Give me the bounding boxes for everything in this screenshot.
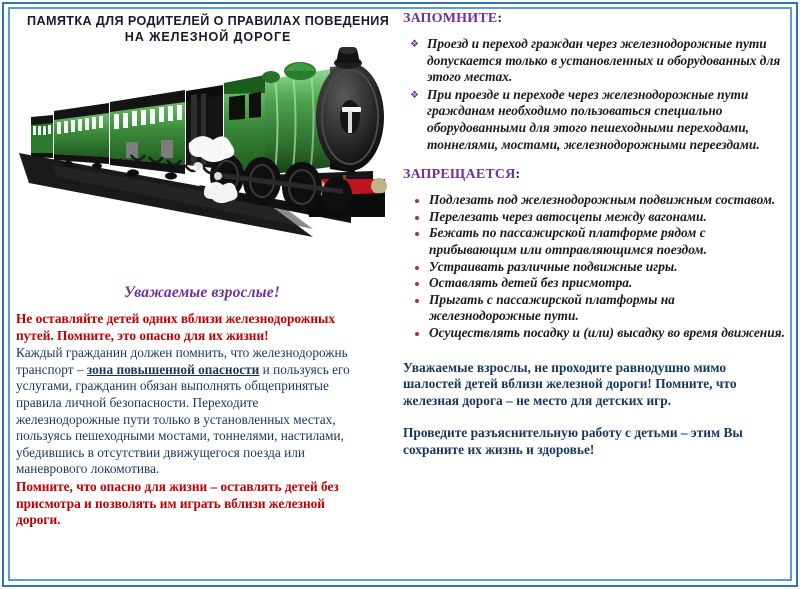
right-column: ЗАПОМНИТЕ: Проезд и переход граждан чере… [391,11,787,576]
remember-heading-text: ЗАПОМНИТЕ [403,11,497,26]
forbidden-list: Подлезать под железнодорожным подвижным … [403,192,787,341]
list-item: Осуществлять посадку и (или) высадку во … [403,325,787,342]
right-closing-paragraph-1: Уважаемые взрослы, не проходите равнодуш… [403,360,787,410]
left-closing-line-3: дороги. [16,512,391,529]
list-item: Прыгать с пассажирской платформы на желе… [403,292,787,325]
remember-heading-colon: : [497,11,502,26]
poster-content: ПАМЯТКА ДЛЯ РОДИТЕЛЕЙ О ПРАВИЛАХ ПОВЕДЕН… [13,11,787,576]
left-body-line-7: убедившись в отсутствии движущегося поез… [16,445,397,462]
left-closing-line-1: Помните, что опасно для жизни – оставлят… [16,479,391,496]
left-body-line-5: железнодорожные пути только в установлен… [16,412,397,429]
left-body-line-8: маневрового локомотива. [16,461,397,478]
railway-safety-poster: ПАМЯТКА ДЛЯ РОДИТЕЛЕЙ О ПРАВИЛАХ ПОВЕДЕН… [0,0,800,589]
left-warning-line-1: Не оставляйте детей одних вблизи железно… [16,311,391,328]
list-item: Оставлять детей без присмотра. [403,275,787,292]
list-item: Устраивать различные подвижные игры. [403,259,787,276]
left-closing-warning: Помните, что опасно для жизни – оставлят… [13,479,391,529]
left-warning-text: Не оставляйте детей одних вблизи железно… [13,311,391,344]
remember-heading: ЗАПОМНИТЕ: [403,11,787,27]
list-item: Подлезать под железнодорожным подвижным … [403,192,787,209]
left-closing-line-2: присмотра и позволять им играть вблизи ж… [16,496,391,513]
list-item: Бежать по пассажирской платформе рядом с… [403,225,787,258]
steam-locomotive-illustration [13,47,391,257]
forbidden-heading-text: ЗАПРЕЩАЕТСЯ [403,167,516,182]
left-warning-line-2: путей. Помните, это опасно для их жизни! [16,328,391,345]
forbidden-heading: ЗАПРЕЩАЕТСЯ: [403,167,787,183]
right-closing-1-line-1: Уважаемые взрослы, не проходите равнодуш… [403,360,787,377]
page-title: ПАМЯТКА ДЛЯ РОДИТЕЛЕЙ О ПРАВИЛАХ ПОВЕДЕН… [13,11,391,45]
left-body-line-2: транспорт – зона повышенной опасности и … [16,362,397,379]
right-closing-2-line-2: сохраните их жизнь и здоровье! [403,442,787,459]
locomotive-smokebox [316,47,384,173]
left-body-paragraph: Каждый гражданин должен помнить, что жел… [13,345,397,478]
left-body-line-4: правила личной безопасности. Переходите [16,395,397,412]
right-closing-1-line-2: шалостей детей вблизи железной дороги! П… [403,376,787,393]
left-body-line-3: услугами, гражданин обязан выполнять общ… [16,378,397,395]
left-column: ПАМЯТКА ДЛЯ РОДИТЕЛЕЙ О ПРАВИЛАХ ПОВЕДЕН… [13,11,391,576]
list-item: При проезде и переходе через железнодоро… [403,87,787,153]
left-body-line-1: Каждый гражданин должен помнить, что жел… [16,345,397,362]
right-closing-1-line-3: железная дорога – не место для детских и… [403,393,787,410]
page-title-line-1: ПАМЯТКА ДЛЯ РОДИТЕЛЕЙ О ПРАВИЛАХ ПОВЕДЕН… [27,14,389,28]
right-closing-paragraph-2: Проведите разъяснительную работу с детьм… [403,425,787,459]
right-closing-2-line-1: Проведите разъяснительную работу с детьм… [403,425,787,442]
emphasis-danger-zone: зона повышенной опасности [87,362,259,377]
greeting-heading: Уважаемые взрослые! [13,284,391,302]
remember-list: Проезд и переход граждан через железнодо… [403,36,787,153]
page-title-line-2: НА ЖЕЛЕЗНОЙ ДОРОГЕ [125,30,292,44]
list-item: Проезд и переход граждан через железнодо… [403,36,787,86]
left-body-line-6: пользуясь пешеходными мостами, тоннелями… [16,428,397,445]
forbidden-heading-colon: : [516,167,521,182]
list-item: Перелезать через автосцепы между вагонам… [403,209,787,226]
